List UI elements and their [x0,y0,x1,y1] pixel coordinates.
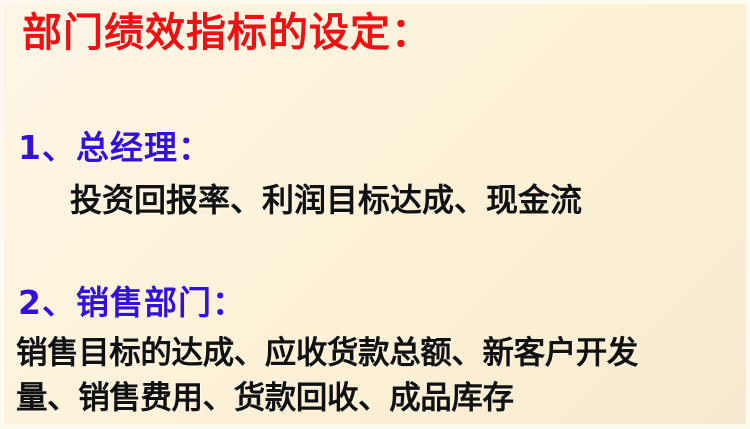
section-1-line-1: 投资回报率、利润目标达成、现金流 [70,184,582,216]
page-title: 部门绩效指标的设定： [22,13,432,53]
slide-content: 部门绩效指标的设定： 1、总经理： 投资回报率、利润目标达成、现金流 2、销售部… [4,4,746,424]
section-2-heading: 2、销售部门： [18,286,246,319]
section-2-line-2: 量、销售费用、货款回收、成品库存 [16,383,514,415]
slide-canvas: 部门绩效指标的设定： 1、总经理： 投资回报率、利润目标达成、现金流 2、销售部… [0,0,750,429]
section-1-heading: 1、总经理： [18,131,212,164]
section-2-line-1: 销售目标的达成、应收货款总额、新客户开发 [16,338,638,370]
